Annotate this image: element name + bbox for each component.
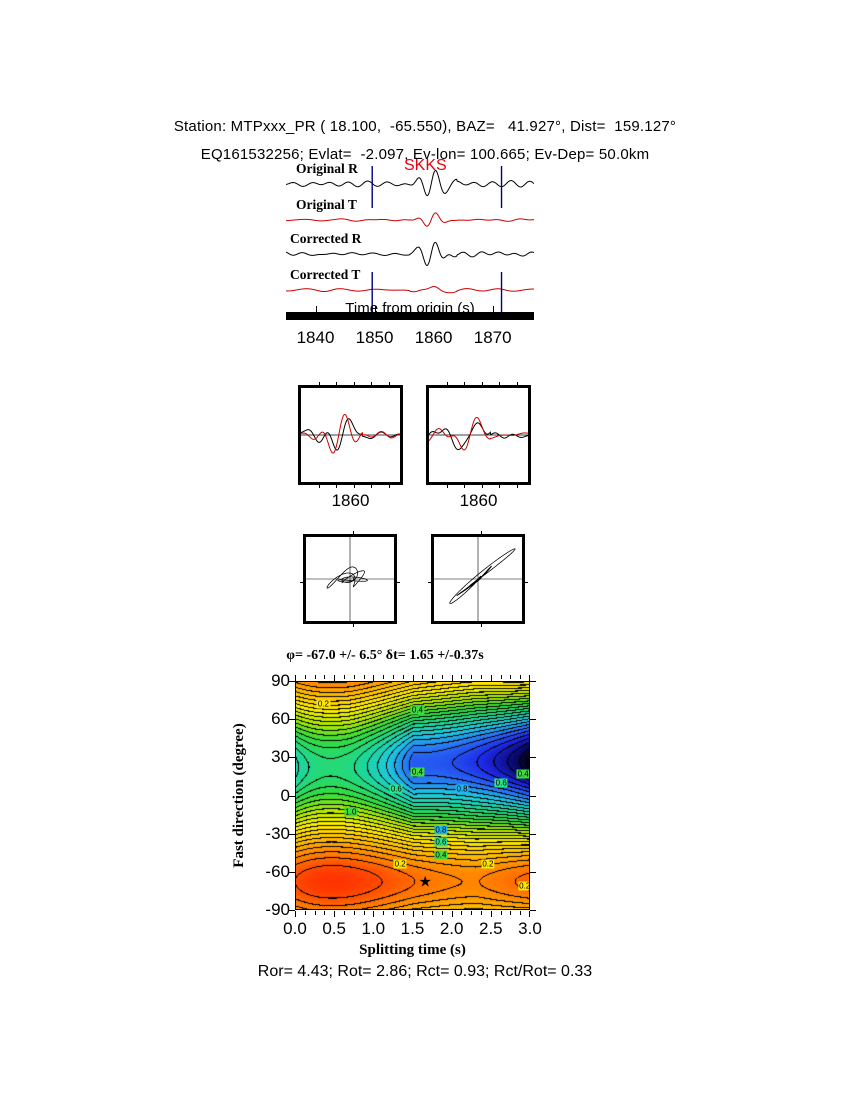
contour-x-tick [324,675,325,679]
contour-x-tick [413,911,414,917]
contour-x-tick [344,675,345,679]
box-tick [464,483,465,488]
time-axis-ticklabel: 1850 [356,328,394,348]
contour-y-tick [530,796,536,797]
box-tick [517,382,518,387]
box-tick [389,382,390,387]
contour-x-tick [501,911,502,915]
box-tick [371,382,372,387]
box-tick [447,382,448,387]
contour-x-tick [344,911,345,915]
contour-y-ticklabel: 60 [250,709,290,729]
contour-x-tick [442,675,443,679]
contour-y-tick [530,681,536,682]
contour-x-ticklabel: 2.0 [440,919,464,939]
contour-y-ticklabel: -30 [250,824,290,844]
contour-x-tick [305,911,306,915]
contour-y-ticklabels: 9060300-30-60-90 [248,681,290,910]
contour-y-tick [530,834,536,835]
time-axis-ticklabels: 1840185018601870 [276,328,544,352]
contour-x-tick [510,911,511,915]
contour-x-tick [305,675,306,679]
contour-x-tick [471,675,472,679]
box-tick [336,483,337,488]
contour-x-tick [520,911,521,915]
box-tick [354,483,355,488]
footer-statistics: Ror= 4.43; Rot= 2.86; Rct= 0.93; Rct/Rot… [0,963,850,981]
waveform-box-ticklabel-1: 1860 [298,491,403,511]
contour-level-label: 0.4 [517,769,530,778]
contour-x-tick [383,911,384,915]
contour-y-tick [530,719,536,720]
contour-x-tick [383,675,384,679]
box-tick [394,582,400,583]
contour-x-tick [403,911,404,915]
box-tick [482,382,483,387]
contour-x-tick [354,675,355,679]
contour-x-tick [315,675,316,679]
contour-y-ticklabel: 90 [250,671,290,691]
box-tick [319,382,320,387]
box-tick [481,531,482,536]
box-tick [428,582,434,583]
contour-level-label: 0.4 [411,768,424,777]
contour-y-ticklabel: -90 [250,900,290,920]
contour-x-tick [422,911,423,915]
contour-y-ticklabel: 30 [250,747,290,767]
box-tick [389,483,390,488]
contour-x-ticklabel: 1.0 [362,919,386,939]
contour-x-tick [432,675,433,679]
time-axis-label: Time from origin (s) [286,300,534,317]
contour-x-tick [422,675,423,679]
contour-y-ticks-right [530,681,536,910]
contour-x-tick [461,911,462,915]
contour-x-ticklabel: 0.5 [322,919,346,939]
box-tick [499,483,500,488]
box-tick [522,582,528,583]
contour-level-label: 0.2 [317,699,330,708]
contour-canvas [296,682,530,910]
contour-level-label: 0.6 [434,838,447,847]
contour-x-tick [403,675,404,679]
figure-page: Station: MTPxxx_PR ( 18.100, -65.550), B… [0,0,850,1100]
contour-y-tick [530,757,536,758]
contour-x-ticklabel: 2.5 [479,919,503,939]
contour-x-tick [442,911,443,915]
contour-x-tick [393,911,394,915]
contour-level-label: 0.4 [411,705,424,714]
waveform-box-fast-slow-1 [298,385,403,485]
contour-x-tick [364,911,365,915]
waveform-box-fast-slow-2 [426,385,531,485]
contour-x-tick [393,675,394,679]
contour-y-ticklabel: -60 [250,862,290,882]
contour-x-tick [481,675,482,679]
contour-x-tick [324,911,325,915]
waveform-panel: Original R Original T Corrected R Correc… [286,166,534,314]
waveform-box-traces-1 [301,388,400,482]
contour-level-label: 0.2 [518,881,530,890]
contour-x-tick [452,911,453,917]
contour-x-ticklabels: 0.00.51.01.52.02.53.0 [265,919,560,943]
contour-level-label: 0.8 [434,825,447,834]
contour-x-tick [373,911,374,917]
contour-x-ticks-bottom [295,911,530,917]
phase-label-skks: SKKS [404,157,447,175]
contour-x-tick [461,675,462,679]
contour-level-label: 1.0 [344,807,357,816]
contour-y-axis-label: Fast direction (degree) [231,681,249,910]
contour-plot-area: 0.20.40.40.60.80.60.41.00.80.60.40.20.20… [295,681,530,910]
box-tick [499,382,500,387]
box-tick [517,483,518,488]
contour-x-tick [520,675,521,679]
contour-level-label: 0.4 [434,851,447,860]
box-tick [371,483,372,488]
box-tick [353,622,354,627]
trace-label-original-r: Original R [296,161,358,177]
contour-x-ticklabel: 0.0 [283,919,307,939]
contour-x-tick [295,911,296,917]
contour-x-tick [471,911,472,915]
particle-motion-trace-after [434,537,522,621]
trace-label-corrected-r: Corrected R [290,231,361,247]
contour-y-ticklabel: 0 [250,786,290,806]
contour-x-ticklabel: 3.0 [518,919,542,939]
header-line-1: Station: MTPxxx_PR ( 18.100, -65.550), B… [0,118,850,135]
trace-label-corrected-t: Corrected T [290,267,360,283]
box-tick [354,382,355,387]
contour-level-label: 0.2 [394,859,407,868]
particle-motion-trace-before [306,537,394,621]
contour-level-label: 0.2 [481,859,494,868]
contour-level-label: 0.6 [390,784,403,793]
contour-x-axis-label: Splitting time (s) [295,942,530,959]
contour-x-ticklabel: 1.5 [401,919,425,939]
contour-x-tick [481,911,482,915]
box-tick [481,622,482,627]
contour-x-tick [354,911,355,915]
box-tick [447,483,448,488]
box-tick [336,382,337,387]
box-tick [464,382,465,387]
contour-x-tick [432,911,433,915]
contour-level-label: 0.8 [456,784,469,793]
box-tick [319,483,320,488]
contour-y-tick [530,910,536,911]
time-axis-ticklabel: 1860 [415,328,453,348]
contour-level-label: 0.6 [495,778,508,787]
box-tick [482,483,483,488]
particle-motion-box-after [431,534,525,624]
particle-motion-box-before [303,534,397,624]
best-solution-star-marker: ★ [419,874,432,889]
contour-x-tick [334,911,335,917]
trace-label-original-t: Original T [296,197,357,213]
contour-x-tick [491,911,492,917]
box-tick [353,531,354,536]
contour-title: φ= -67.0 +/- 6.5° δt= 1.65 +/-0.37s [225,648,545,664]
contour-y-tick [530,872,536,873]
contour-x-tick [501,675,502,679]
waveform-box-ticklabel-2: 1860 [426,491,531,511]
contour-x-tick [529,911,530,917]
box-tick [300,582,306,583]
time-axis-ticklabel: 1840 [297,328,335,348]
contour-x-tick [510,675,511,679]
contour-x-tick [315,911,316,915]
waveform-box-traces-2 [429,388,528,482]
time-axis-ticklabel: 1870 [474,328,512,348]
contour-x-tick [364,675,365,679]
